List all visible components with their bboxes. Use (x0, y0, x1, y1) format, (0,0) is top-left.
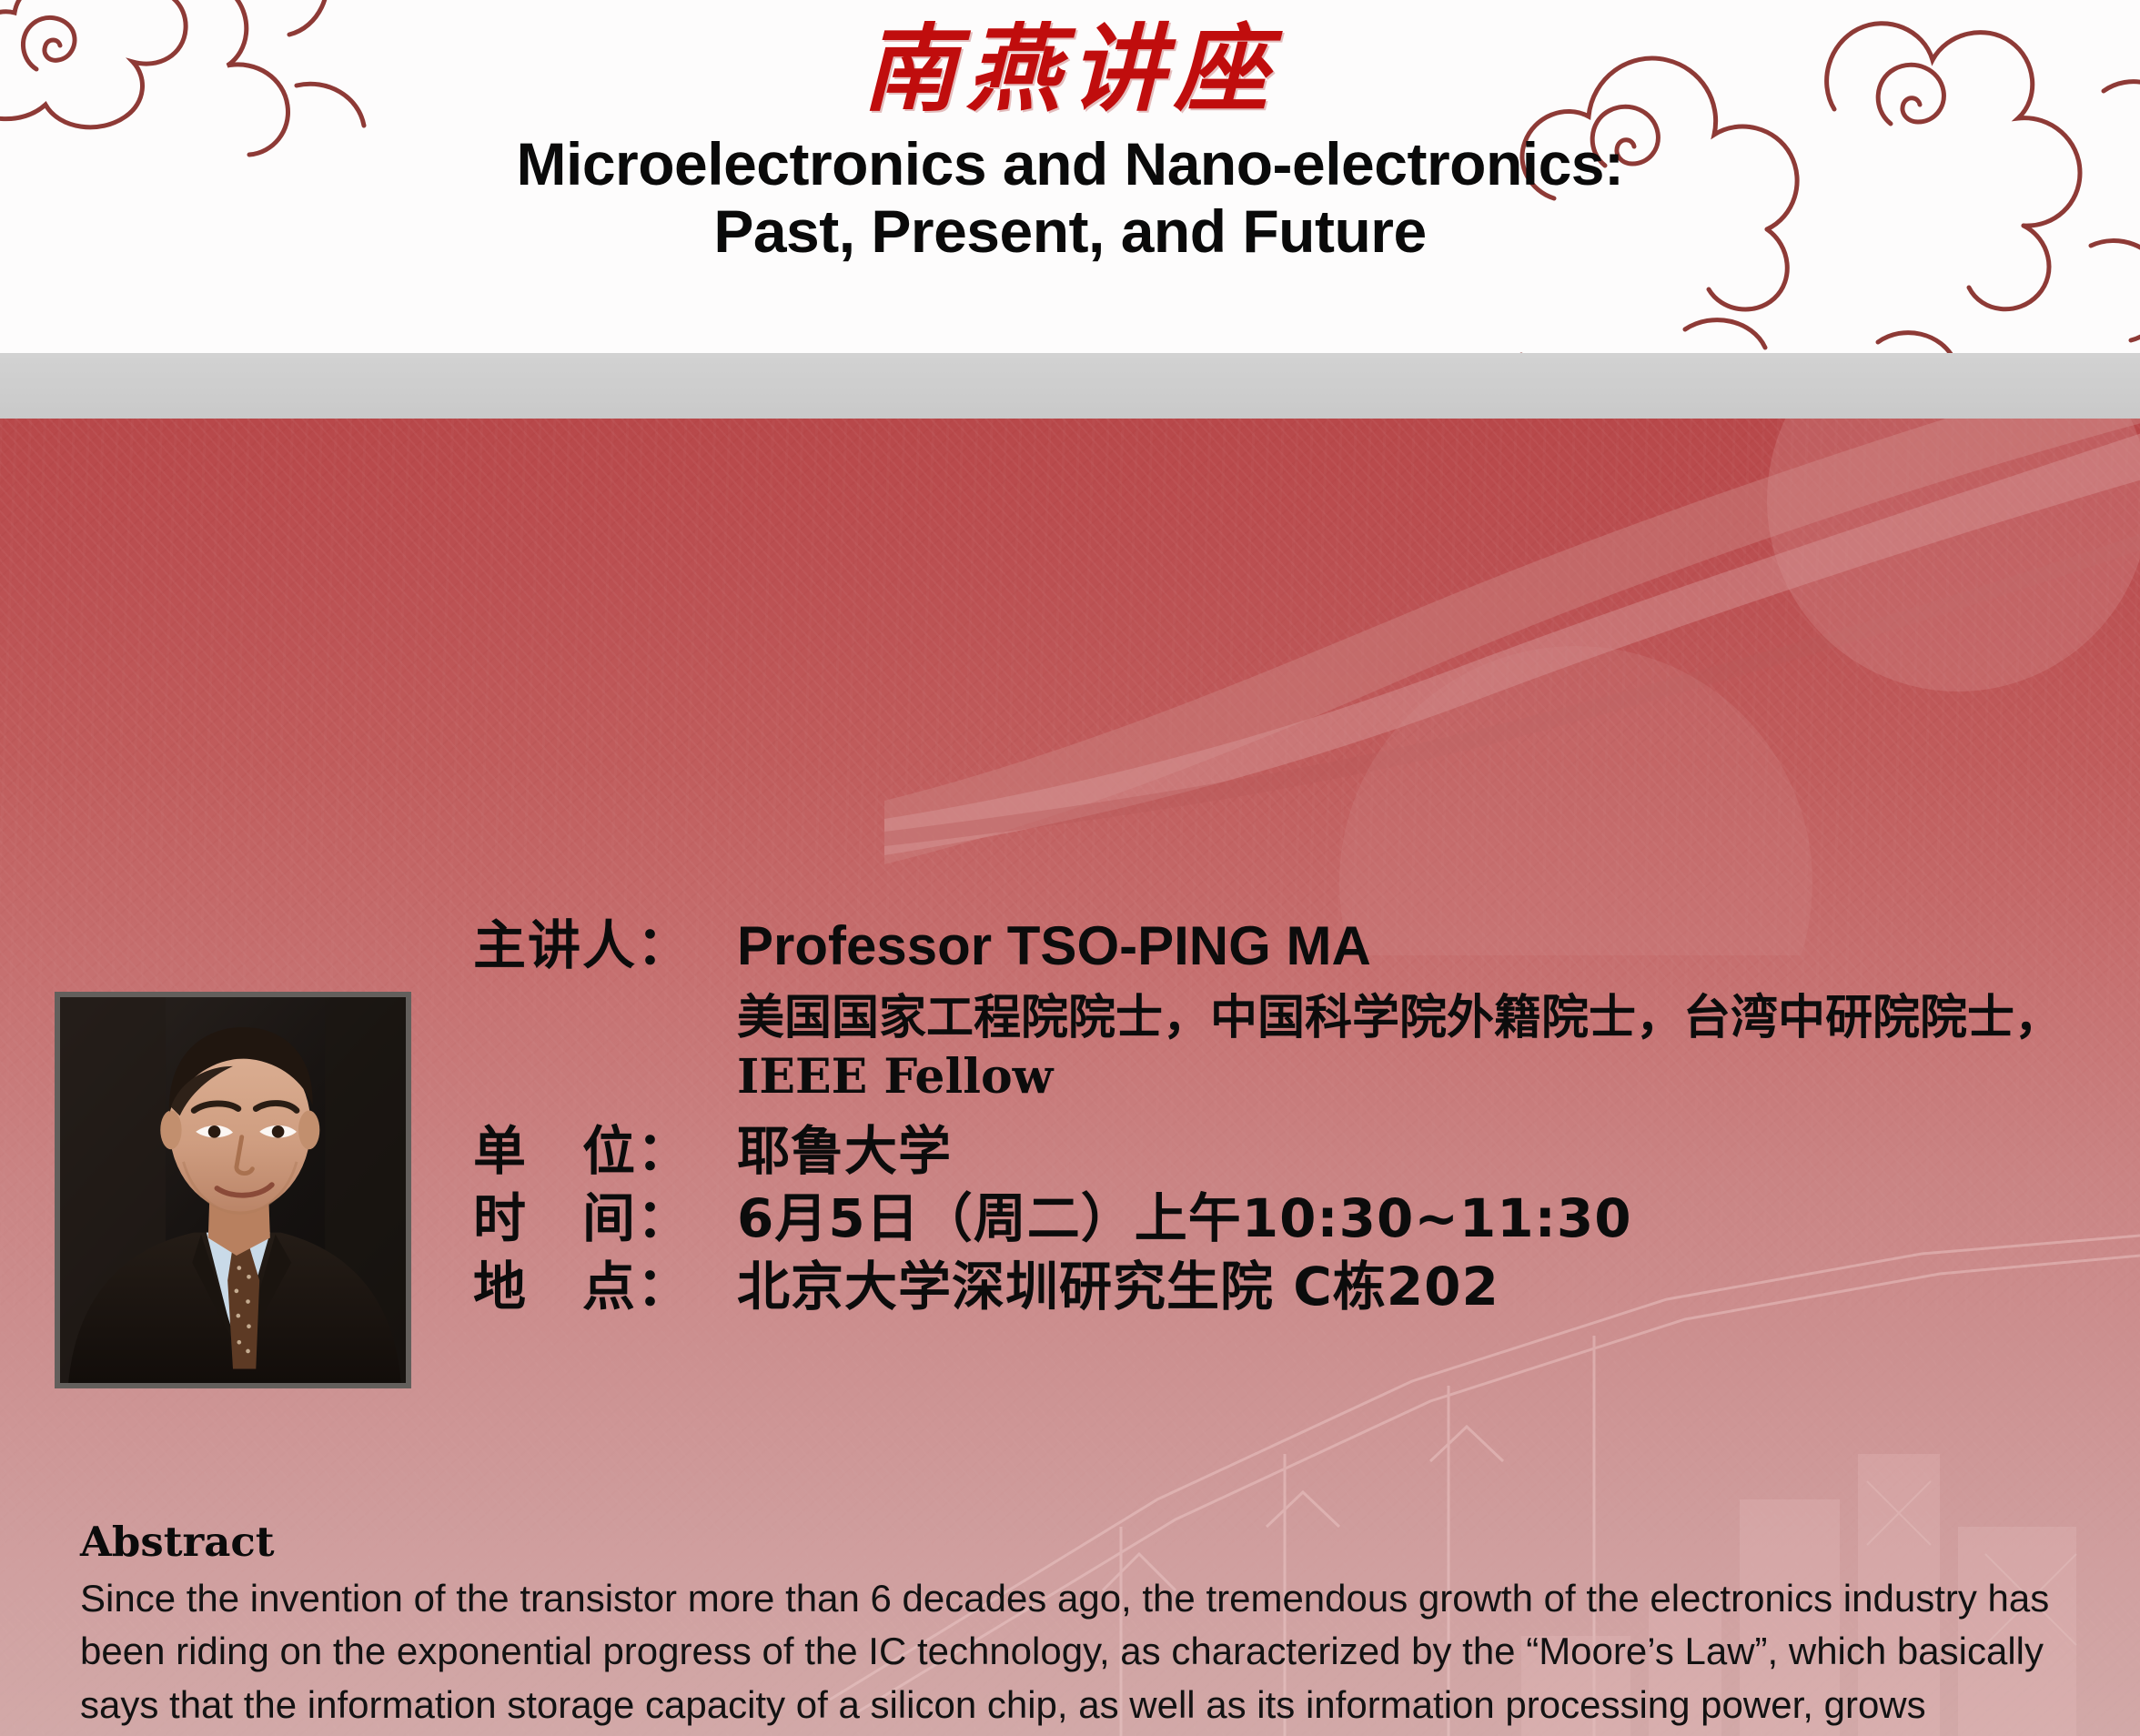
speaker-name: Professor TSO-PING MA (737, 914, 1371, 979)
info-row-location: 地 点： 北京大学深圳研究生院 C栋202 (473, 1256, 2111, 1317)
info-row-speaker: 主讲人： Professor TSO-PING MA (473, 914, 2111, 979)
speaker-credentials: 美国国家工程院院士，中国科学院外籍院士，台湾中研院院士，IEEE Fellow (737, 988, 2102, 1107)
lecture-poster: 南燕讲座 Microelectronics and Nano-electroni… (0, 0, 2140, 1736)
info-row-time: 时 间： 6月5日（周二）上午10:30~11:30 (473, 1187, 2111, 1249)
abstract-heading: Abstract (80, 1519, 2082, 1565)
info-row-affiliation: 单 位： 耶鲁大学 (473, 1120, 2111, 1182)
divider-band (0, 353, 2140, 419)
affiliation-value: 耶鲁大学 (737, 1120, 952, 1182)
time-value: 6月5日（周二）上午10:30~11:30 (737, 1187, 1632, 1249)
poster-header: 南燕讲座 Microelectronics and Nano-electroni… (0, 0, 2140, 353)
speaker-info-block: 主讲人： Professor TSO-PING MA 美国国家工程院院士，中国科… (473, 914, 2111, 1323)
abstract-block: Abstract Since the invention of the tran… (80, 1519, 2082, 1736)
title-block: 南燕讲座 Microelectronics and Nano-electroni… (0, 0, 2140, 353)
page-title: Microelectronics and Nano-electronics: P… (517, 131, 1624, 266)
location-label: 地 点： (473, 1256, 737, 1317)
location-value: 北京大学深圳研究生院 C栋202 (737, 1256, 1499, 1317)
speaker-label: 主讲人： (473, 914, 737, 976)
affiliation-label: 单 位： (473, 1120, 737, 1182)
speaker-photo (55, 992, 411, 1388)
poster-body: 主讲人： Professor TSO-PING MA 美国国家工程院院士，中国科… (0, 419, 2140, 1736)
time-label: 时 间： (473, 1187, 737, 1249)
series-title-chinese: 南燕讲座 (863, 22, 1277, 116)
avatar (60, 997, 406, 1383)
abstract-text: Since the invention of the transistor mo… (80, 1572, 2073, 1736)
